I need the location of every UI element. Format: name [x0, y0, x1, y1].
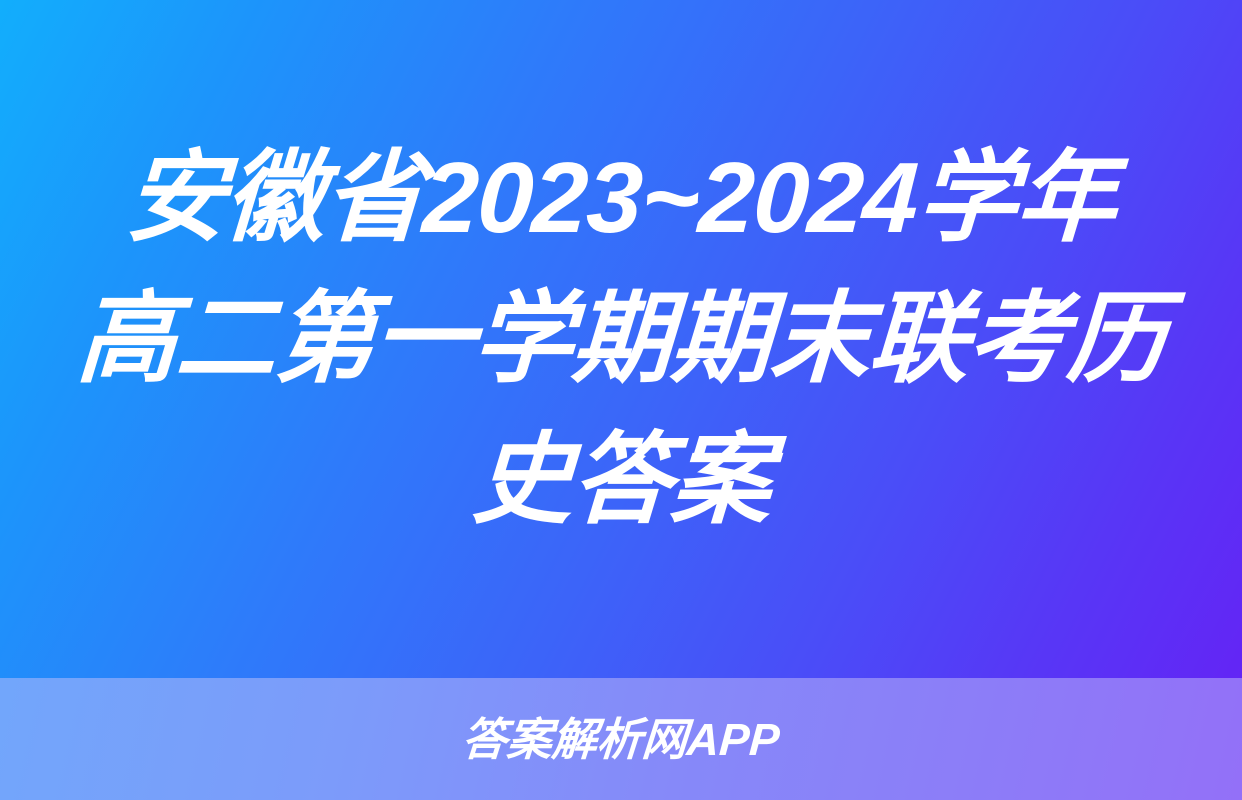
app-watermark-label: 答案解析网APP: [461, 717, 782, 762]
promo-banner: 安徽省2023~2024学年 高二第一学期期末联考历 史答案 答案解析网APP: [0, 0, 1242, 800]
title-line-2: 高二第一学期期末联考历: [73, 269, 1169, 410]
footer-watermark-band: 答案解析网APP: [0, 678, 1242, 800]
page-title: 安徽省2023~2024学年 高二第一学期期末联考历 史答案: [0, 0, 1242, 678]
title-line-1: 安徽省2023~2024学年: [123, 128, 1120, 269]
title-line-3: 史答案: [469, 410, 773, 551]
